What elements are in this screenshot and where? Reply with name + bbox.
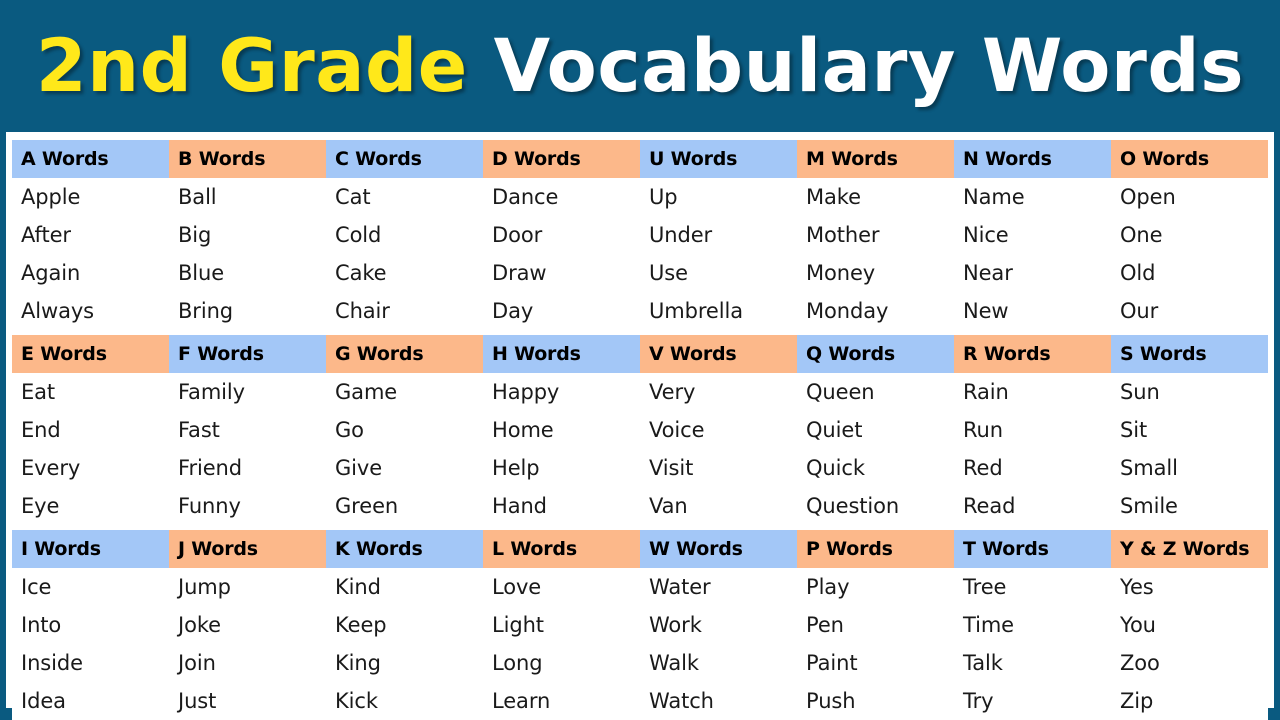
table-row: IdeaJustKickLearnWatchPushTryZip [12,682,1268,720]
word-cell: Joke [169,606,326,644]
column-header[interactable]: P Words [797,530,954,568]
word-cell: Talk [954,644,1111,682]
word-cell: Dance [483,178,640,216]
word-cell: Zip [1111,682,1268,720]
table-row: EatFamilyGameHappyVeryQueenRainSun [12,373,1268,411]
word-cell: Give [326,449,483,487]
word-cell: Door [483,216,640,254]
word-cell: Funny [169,487,326,525]
page-title-grade: 2nd Grade [36,24,468,109]
word-cell: Game [326,373,483,411]
column-header[interactable]: S Words [1111,335,1268,373]
word-cell: Quiet [797,411,954,449]
word-cell: Voice [640,411,797,449]
word-cell: Time [954,606,1111,644]
word-cell: You [1111,606,1268,644]
word-cell: Try [954,682,1111,720]
word-cell: Read [954,487,1111,525]
word-cell: Cat [326,178,483,216]
word-cell: Idea [12,682,169,720]
word-cell: Run [954,411,1111,449]
word-cell: Ice [12,568,169,606]
word-cell: Love [483,568,640,606]
word-cell: Light [483,606,640,644]
word-cell: Nice [954,216,1111,254]
word-cell: Fast [169,411,326,449]
word-cell: Keep [326,606,483,644]
word-cell: Walk [640,644,797,682]
word-cell: Sit [1111,411,1268,449]
word-cell: Mother [797,216,954,254]
column-header[interactable]: G Words [326,335,483,373]
word-cell: Use [640,254,797,292]
word-cell: Green [326,487,483,525]
word-cell: Watch [640,682,797,720]
word-cell: Day [483,292,640,330]
word-cell: New [954,292,1111,330]
word-cell: Blue [169,254,326,292]
column-header[interactable]: B Words [169,140,326,178]
title-banner: 2nd Grade Vocabulary Words [0,0,1280,132]
table-row: AlwaysBringChairDayUmbrellaMondayNewOur [12,292,1268,330]
word-cell: Bring [169,292,326,330]
table-row: InsideJoinKingLongWalkPaintTalkZoo [12,644,1268,682]
word-cell: Home [483,411,640,449]
column-header[interactable]: L Words [483,530,640,568]
word-cell: Kind [326,568,483,606]
column-header[interactable]: I Words [12,530,169,568]
column-header[interactable]: M Words [797,140,954,178]
word-cell: Yes [1111,568,1268,606]
header-row: E WordsF WordsG WordsH WordsV WordsQ Wor… [12,335,1268,373]
word-cell: Rain [954,373,1111,411]
word-cell: Money [797,254,954,292]
column-header[interactable]: O Words [1111,140,1268,178]
word-cell: Near [954,254,1111,292]
word-cell: Our [1111,292,1268,330]
word-cell: Up [640,178,797,216]
word-cell: Go [326,411,483,449]
word-cell: Visit [640,449,797,487]
column-header[interactable]: U Words [640,140,797,178]
word-cell: Jump [169,568,326,606]
word-cell: Zoo [1111,644,1268,682]
word-cell: Work [640,606,797,644]
word-cell: Friend [169,449,326,487]
word-cell: Van [640,487,797,525]
word-cell: Inside [12,644,169,682]
word-cell: Red [954,449,1111,487]
word-cell: Push [797,682,954,720]
column-header[interactable]: K Words [326,530,483,568]
word-cell: Long [483,644,640,682]
word-cell: Make [797,178,954,216]
table-row: AppleBallCatDanceUpMakeNameOpen [12,178,1268,216]
column-header[interactable]: V Words [640,335,797,373]
word-cell: One [1111,216,1268,254]
word-cell: Umbrella [640,292,797,330]
word-cell: Happy [483,373,640,411]
word-cell: Eye [12,487,169,525]
page-root: 2nd Grade Vocabulary Words A WordsB Word… [0,0,1280,720]
table-row: EveryFriendGiveHelpVisitQuickRedSmall [12,449,1268,487]
word-cell: Learn [483,682,640,720]
word-cell: Water [640,568,797,606]
word-cell: Monday [797,292,954,330]
word-cell: Question [797,487,954,525]
word-cell: Cold [326,216,483,254]
page-title-subject: Vocabulary Words [494,24,1244,109]
word-cell: Small [1111,449,1268,487]
header-row: I WordsJ WordsK WordsL WordsW WordsP Wor… [12,530,1268,568]
word-cell: Hand [483,487,640,525]
word-cell: Eat [12,373,169,411]
vocabulary-table: A WordsB WordsC WordsD WordsU WordsM Wor… [12,140,1268,720]
word-cell: Open [1111,178,1268,216]
table-row: IntoJokeKeepLightWorkPenTimeYou [12,606,1268,644]
column-header[interactable]: C Words [326,140,483,178]
word-cell: Name [954,178,1111,216]
column-header[interactable]: Y & Z Words [1111,530,1268,568]
word-cell: Draw [483,254,640,292]
word-cell: Pen [797,606,954,644]
column-header[interactable]: N Words [954,140,1111,178]
word-cell: Again [12,254,169,292]
word-cell: Play [797,568,954,606]
word-cell: Sun [1111,373,1268,411]
word-cell: Quick [797,449,954,487]
column-header[interactable]: Q Words [797,335,954,373]
word-cell: Very [640,373,797,411]
column-header[interactable]: A Words [12,140,169,178]
word-cell: Old [1111,254,1268,292]
column-header[interactable]: T Words [954,530,1111,568]
word-cell: Chair [326,292,483,330]
column-header[interactable]: R Words [954,335,1111,373]
table-row: AgainBlueCakeDrawUseMoneyNearOld [12,254,1268,292]
word-cell: Always [12,292,169,330]
word-cell: Every [12,449,169,487]
page-title: 2nd Grade Vocabulary Words [36,30,1244,103]
word-cell: Apple [12,178,169,216]
column-header[interactable]: H Words [483,335,640,373]
table-row: EyeFunnyGreenHandVanQuestionReadSmile [12,487,1268,525]
word-cell: After [12,216,169,254]
table-row: EndFastGoHomeVoiceQuietRunSit [12,411,1268,449]
column-header[interactable]: F Words [169,335,326,373]
word-cell: Queen [797,373,954,411]
word-cell: Ball [169,178,326,216]
column-header[interactable]: J Words [169,530,326,568]
word-cell: Family [169,373,326,411]
word-cell: Smile [1111,487,1268,525]
vocabulary-card: A WordsB WordsC WordsD WordsU WordsM Wor… [6,132,1274,708]
word-cell: Join [169,644,326,682]
word-cell: Into [12,606,169,644]
word-cell: Paint [797,644,954,682]
column-header[interactable]: W Words [640,530,797,568]
column-header[interactable]: D Words [483,140,640,178]
word-cell: Help [483,449,640,487]
word-cell: Just [169,682,326,720]
word-cell: Under [640,216,797,254]
column-header[interactable]: E Words [12,335,169,373]
word-cell: Tree [954,568,1111,606]
word-cell: Kick [326,682,483,720]
word-cell: King [326,644,483,682]
word-cell: Big [169,216,326,254]
header-row: A WordsB WordsC WordsD WordsU WordsM Wor… [12,140,1268,178]
word-cell: End [12,411,169,449]
table-row: AfterBigColdDoorUnderMotherNiceOne [12,216,1268,254]
word-cell: Cake [326,254,483,292]
table-row: IceJumpKindLoveWaterPlayTreeYes [12,568,1268,606]
